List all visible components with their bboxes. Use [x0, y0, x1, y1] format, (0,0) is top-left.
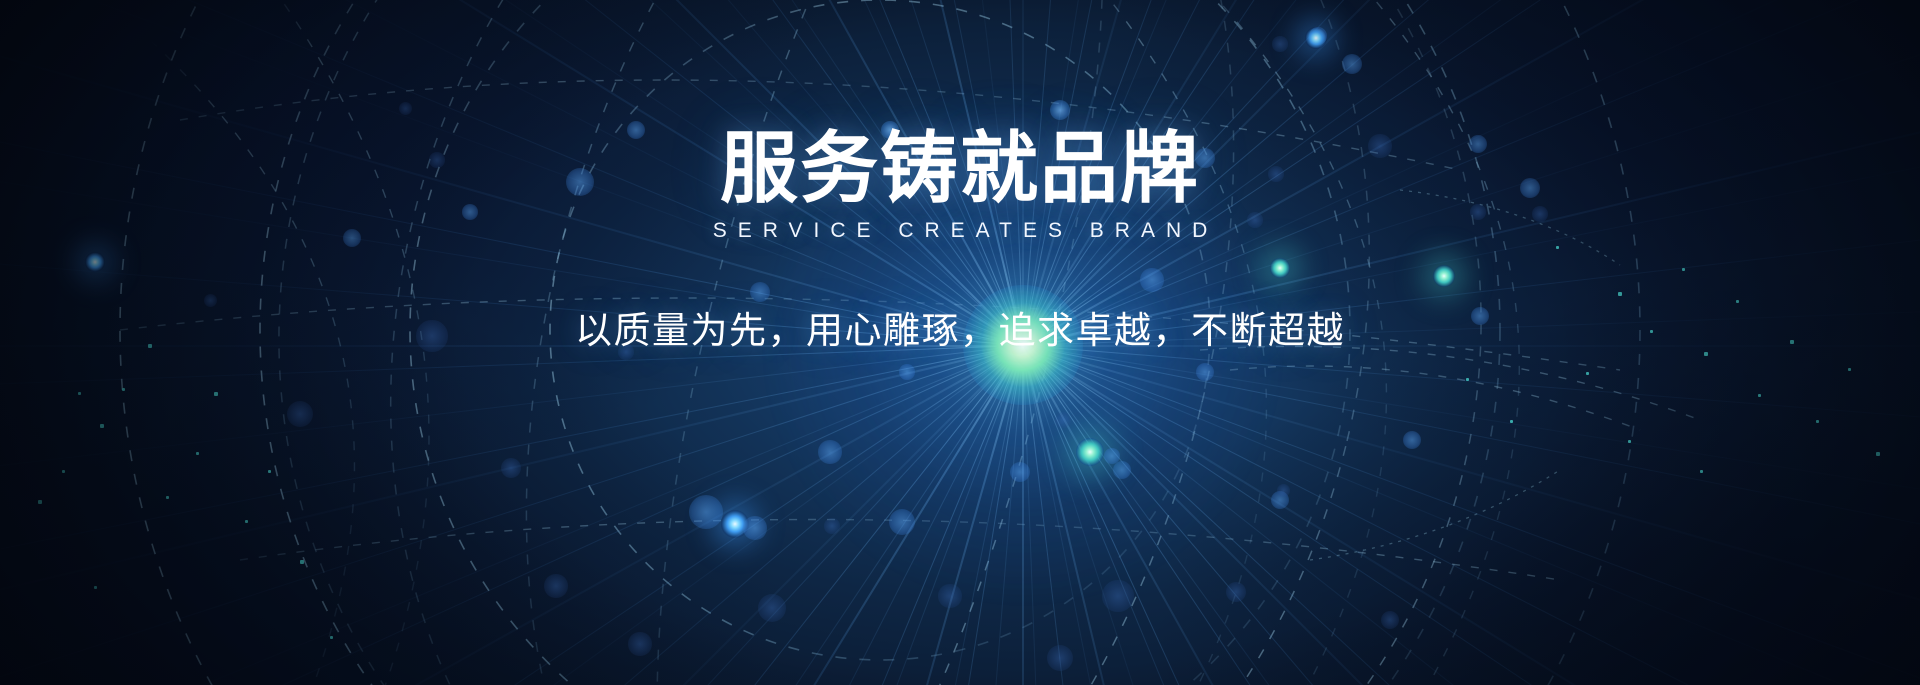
banner-tagline: 以质量为先，用心雕琢，追求卓越，不断超越	[0, 300, 1920, 354]
page-title: 服务铸就品牌	[0, 127, 1920, 210]
hero-banner: 服务铸就品牌 SERVICE CREATES BRAND 以质量为先，用心雕琢，…	[0, 0, 1920, 685]
banner-subtitle: SERVICE CREATES BRAND	[0, 219, 1920, 243]
